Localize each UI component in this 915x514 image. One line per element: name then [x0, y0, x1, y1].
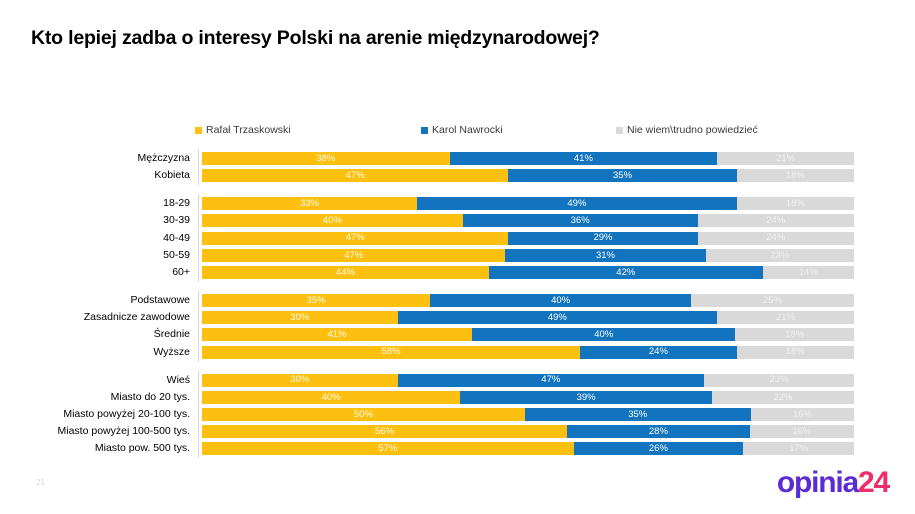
bar-segment-1[interactable]: 38% [202, 152, 450, 165]
chart-row: 30%47%23% [0, 374, 915, 387]
logo-number-mark: 24 [858, 466, 889, 499]
bar-segment-3[interactable]: 22% [712, 391, 854, 404]
chart-row: 44%42%14% [0, 266, 915, 279]
bar-segment-2[interactable]: 24% [580, 346, 736, 359]
group-axis-line [198, 194, 199, 282]
bar-segment-2[interactable]: 26% [574, 442, 744, 455]
stacked-bar: 47%29%24% [202, 232, 854, 245]
bar-segment-2[interactable]: 49% [398, 311, 717, 324]
stacked-bar: 47%35%18% [202, 169, 854, 182]
page-number: 21 [36, 478, 45, 487]
stacked-bar: 40%36%24% [202, 214, 854, 227]
bar-segment-1[interactable]: 40% [202, 214, 463, 227]
bar-segment-1[interactable]: 50% [202, 408, 525, 421]
legend-label: Karol Nawrocki [432, 124, 503, 136]
chart-row: 35%40%25% [0, 294, 915, 307]
bar-segment-3[interactable]: 16% [750, 425, 854, 438]
chart-row: 58%24%18% [0, 346, 915, 359]
bar-segment-3[interactable]: 18% [737, 169, 854, 182]
bar-segment-1[interactable]: 41% [202, 328, 472, 341]
page-title: Kto lepiej zadba o interesy Polski na ar… [31, 27, 600, 50]
bar-segment-3[interactable]: 18% [737, 197, 854, 210]
bar-segment-3[interactable]: 21% [717, 311, 854, 324]
legend-label: Rafał Trzaskowski [206, 124, 291, 136]
bar-segment-3[interactable]: 14% [763, 266, 854, 279]
bar-segment-1[interactable]: 58% [202, 346, 580, 359]
bar-segment-1[interactable]: 47% [202, 232, 508, 245]
bar-segment-2[interactable]: 39% [460, 391, 712, 404]
legend-label: Nie wiem\trudno powiedzieć [627, 124, 758, 136]
bar-segment-1[interactable]: 44% [202, 266, 489, 279]
bar-segment-1[interactable]: 33% [202, 197, 417, 210]
chart-row: 40%36%24% [0, 214, 915, 227]
bar-segment-3[interactable]: 24% [698, 214, 854, 227]
bar-segment-2[interactable]: 36% [463, 214, 698, 227]
bar-segment-3[interactable]: 18% [737, 346, 854, 359]
chart-row: 47%31%23% [0, 249, 915, 262]
chart-row: 47%35%18% [0, 169, 915, 182]
stacked-bar: 44%42%14% [202, 266, 854, 279]
chart-legend: Rafał TrzaskowskiKarol NawrockiNie wiem\… [195, 124, 805, 138]
stacked-bar: 30%47%23% [202, 374, 854, 387]
bar-segment-2[interactable]: 41% [450, 152, 717, 165]
legend-swatch-icon [421, 127, 428, 134]
chart-row: 40%39%22% [0, 391, 915, 404]
bar-segment-2[interactable]: 42% [489, 266, 763, 279]
bar-segment-3[interactable]: 21% [717, 152, 854, 165]
bar-segment-2[interactable]: 29% [508, 232, 697, 245]
bar-segment-3[interactable]: 24% [698, 232, 854, 245]
bar-segment-1[interactable]: 30% [202, 311, 398, 324]
legend-swatch-icon [195, 127, 202, 134]
bar-segment-1[interactable]: 47% [202, 249, 505, 262]
chart-row: 38%41%21% [0, 152, 915, 165]
stacked-bar: 30%49%21% [202, 311, 854, 324]
bar-segment-3[interactable]: 18% [735, 328, 854, 341]
bar-segment-1[interactable]: 30% [202, 374, 398, 387]
stacked-bar: 41%40%18% [202, 328, 854, 341]
stacked-bar: 47%31%23% [202, 249, 854, 262]
stacked-bar: 40%39%22% [202, 391, 854, 404]
bar-segment-2[interactable]: 35% [525, 408, 751, 421]
bar-segment-3[interactable]: 17% [743, 442, 854, 455]
chart-row: 57%26%17% [0, 442, 915, 455]
legend-swatch-icon [616, 127, 623, 134]
bar-segment-2[interactable]: 40% [472, 328, 735, 341]
bar-segment-1[interactable]: 35% [202, 294, 430, 307]
bar-segment-2[interactable]: 31% [505, 249, 705, 262]
stacked-bar: 35%40%25% [202, 294, 854, 307]
stacked-bar: 58%24%18% [202, 346, 854, 359]
group-axis-line [198, 149, 199, 185]
chart-row: 47%29%24% [0, 232, 915, 245]
opinia24-logo: opinia24 [777, 468, 889, 498]
logo-word-mark: opinia [777, 466, 858, 499]
group-axis-line [198, 371, 199, 459]
bar-segment-2[interactable]: 40% [430, 294, 691, 307]
bar-segment-1[interactable]: 40% [202, 391, 460, 404]
legend-item-3[interactable]: Nie wiem\trudno powiedzieć [616, 124, 758, 136]
stacked-bar: 50%35%16% [202, 408, 854, 421]
bar-segment-3[interactable]: 16% [751, 408, 854, 421]
slide: Kto lepiej zadba o interesy Polski na ar… [0, 0, 915, 514]
chart-row: 30%49%21% [0, 311, 915, 324]
bar-segment-2[interactable]: 47% [398, 374, 704, 387]
bar-segment-1[interactable]: 47% [202, 169, 508, 182]
bar-segment-2[interactable]: 35% [508, 169, 736, 182]
group-axis-line [198, 291, 199, 362]
stacked-bar: 57%26%17% [202, 442, 854, 455]
stacked-bar: 56%28%16% [202, 425, 854, 438]
bar-segment-1[interactable]: 56% [202, 425, 567, 438]
chart-row: 50%35%16% [0, 408, 915, 421]
bar-segment-2[interactable]: 49% [417, 197, 736, 210]
chart-row: 33%49%18% [0, 197, 915, 210]
bar-segment-1[interactable]: 57% [202, 442, 574, 455]
stacked-bar: 38%41%21% [202, 152, 854, 165]
legend-item-2[interactable]: Karol Nawrocki [421, 124, 503, 136]
chart-plot-area: Mężczyzna38%41%21%Kobieta47%35%18%18-293… [0, 148, 915, 448]
bar-segment-3[interactable]: 25% [691, 294, 854, 307]
stacked-bar: 33%49%18% [202, 197, 854, 210]
legend-item-1[interactable]: Rafał Trzaskowski [195, 124, 291, 136]
bar-segment-3[interactable]: 23% [704, 374, 854, 387]
chart-row: 56%28%16% [0, 425, 915, 438]
bar-segment-2[interactable]: 28% [567, 425, 750, 438]
chart-row: 41%40%18% [0, 328, 915, 341]
bar-segment-3[interactable]: 23% [706, 249, 854, 262]
